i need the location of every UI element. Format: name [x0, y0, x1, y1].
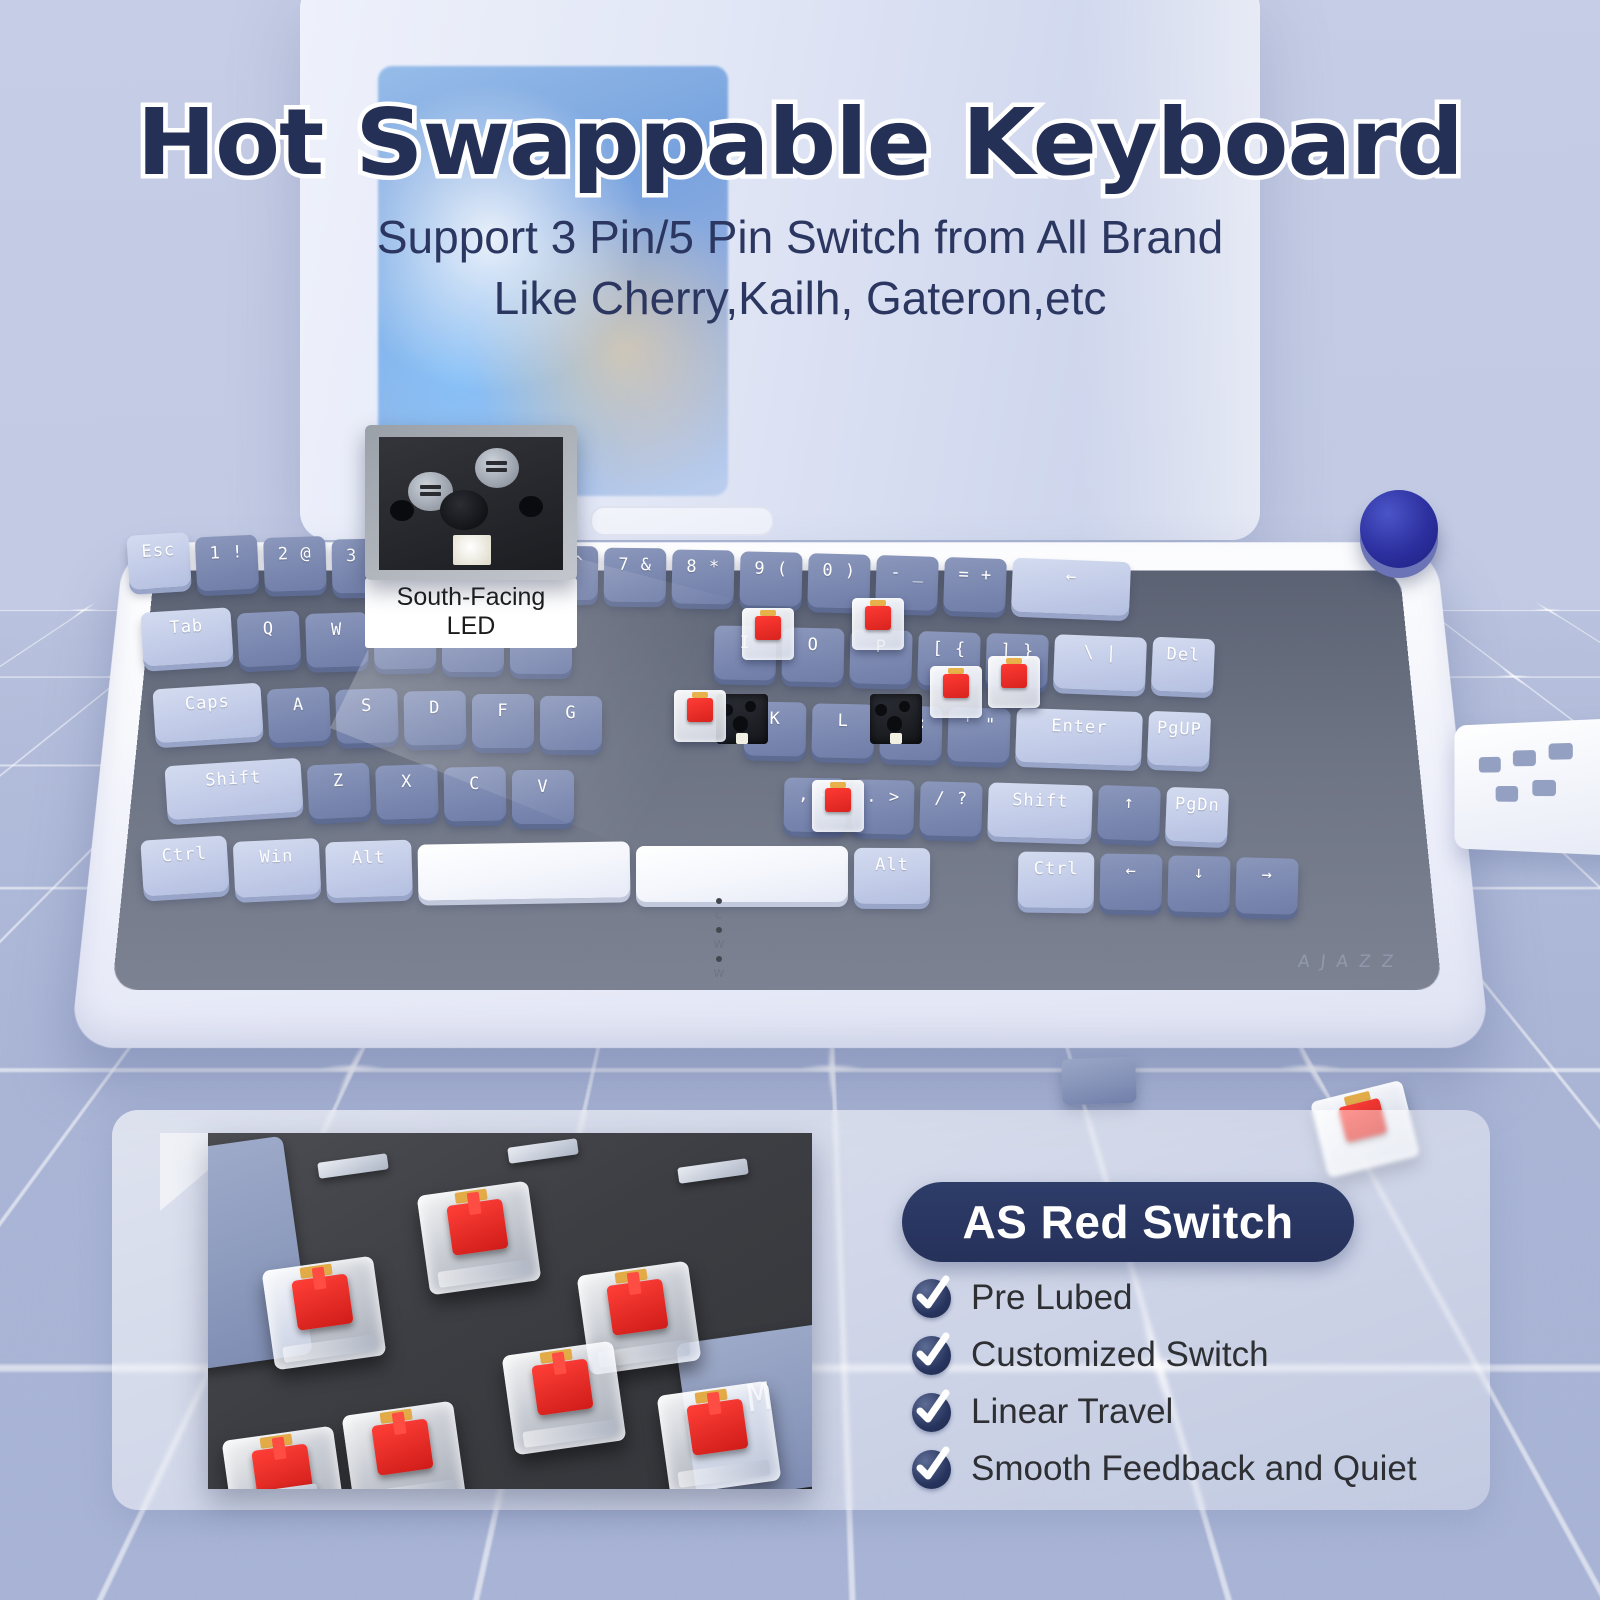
key-[interactable]: ↑ [1097, 785, 1161, 841]
key-[interactable]: \ | [1053, 634, 1147, 692]
check-icon [912, 1393, 951, 1432]
closeup-red-switch [222, 1426, 347, 1489]
volume-knob[interactable] [1360, 490, 1438, 568]
key-g[interactable]: G [540, 696, 602, 750]
feature-label: Customized Switch [971, 1335, 1269, 1375]
closeup-red-switch [417, 1181, 542, 1296]
monitor-edge-highlight [1080, 0, 1260, 540]
key-label: Caps [184, 692, 230, 715]
key-space[interactable] [636, 846, 848, 902]
key-label: 1 ! [209, 542, 244, 564]
keyboard-top-slot [590, 506, 774, 536]
feature-item: Smooth Feedback and Quiet [912, 1449, 1552, 1489]
key-x[interactable]: X [375, 764, 439, 820]
key-label: O [807, 635, 819, 655]
key-pgdn[interactable]: PgDn [1165, 787, 1229, 843]
key-shift[interactable]: Shift [164, 758, 303, 820]
socket-pin-hole-right [519, 496, 543, 517]
key-[interactable]: = + [943, 557, 1007, 613]
switch-socket-image [365, 425, 577, 580]
plate-clip [317, 1153, 389, 1179]
key-del[interactable]: Del [1151, 637, 1215, 694]
feature-label: Smooth Feedback and Quiet [971, 1449, 1417, 1489]
key-label: [ { [932, 638, 966, 659]
south-facing-led-callout: South-Facing LED [365, 425, 577, 648]
indicator-dot [716, 956, 722, 962]
key-label: D [429, 697, 441, 717]
key-label: - _ [890, 562, 924, 583]
key-2[interactable]: 2 @ [263, 536, 327, 592]
key-enter[interactable]: Enter [1015, 708, 1143, 766]
key-9[interactable]: 9 ( [739, 551, 802, 606]
key-label: G [565, 703, 576, 723]
key-label: \ | [1083, 642, 1117, 663]
closeup-red-switch [342, 1401, 467, 1489]
indicator-leds: C W W [706, 898, 732, 985]
keyboard: Esc1 !2 @3 #4 $5 %6 ^7 &8 *9 (0 )- _= +←… [70, 488, 1490, 1048]
key-label: 7 & [618, 555, 652, 575]
key-a[interactable]: A [267, 686, 331, 743]
key-[interactable]: ← [1011, 558, 1131, 617]
key-label: W [331, 620, 343, 640]
key-label: X [401, 772, 413, 792]
key-label: V [537, 777, 548, 797]
feature-list: Pre LubedCustomized SwitchLinear TravelS… [912, 1278, 1552, 1506]
product-poster: Hot Swappable Keyboard Support 3 Pin/5 P… [0, 0, 1600, 1600]
socket-pin-hole-left [390, 500, 414, 521]
check-icon [912, 1336, 951, 1375]
plate-clip [677, 1158, 749, 1184]
key-label: Shift [205, 767, 262, 790]
key-label: Shift [1012, 790, 1069, 812]
key-label: ← [1125, 861, 1137, 881]
switch-closeup-photo: M [208, 1133, 812, 1489]
indicator-dot [716, 898, 722, 904]
socket-center-stem-hole [440, 490, 488, 530]
key-ctrl[interactable]: Ctrl [1018, 852, 1095, 909]
key-label: Win [259, 846, 294, 868]
south-facing-led [453, 535, 492, 564]
key-[interactable]: ← [1100, 853, 1163, 910]
key-label: 0 ) [822, 561, 856, 582]
key-label: Z [332, 770, 344, 791]
key-label: Ctrl [161, 844, 207, 867]
feature-item: Customized Switch [912, 1335, 1552, 1375]
key-label: ↑ [1123, 793, 1135, 813]
indicator-label-c: C [715, 909, 723, 922]
key-w[interactable]: W [305, 612, 369, 668]
key-v[interactable]: V [512, 770, 574, 824]
key-[interactable]: / ? [919, 781, 982, 837]
key-label: → [1261, 865, 1273, 885]
feature-label: Pre Lubed [971, 1278, 1133, 1318]
key-label: ↓ [1193, 863, 1205, 883]
key-label: Esc [141, 540, 176, 562]
key-label: C [469, 773, 481, 793]
secondary-keyboard [1454, 718, 1600, 856]
key-label: Alt [875, 855, 909, 875]
indicator-label-w2: W [714, 967, 725, 980]
floating-keycap [1061, 1057, 1137, 1106]
key-esc[interactable]: Esc [126, 532, 191, 590]
key-ctrl[interactable]: Ctrl [140, 835, 229, 896]
key-label: Tab [169, 616, 204, 638]
key-label: S [361, 696, 373, 716]
key-[interactable]: ↓ [1167, 855, 1230, 912]
key-label: = + [958, 564, 992, 585]
key-label: Ctrl [1034, 859, 1079, 880]
key-label: L [837, 711, 849, 731]
key-s[interactable]: S [335, 688, 399, 744]
closeup-red-switch [502, 1341, 627, 1456]
exposed-red-switch [742, 608, 794, 660]
key-label: K [769, 709, 781, 729]
key-label: Alt [351, 847, 385, 868]
check-icon [912, 1279, 951, 1318]
key-l[interactable]: L [811, 703, 874, 758]
key-label: Q [262, 618, 274, 639]
indicator-label-w1: W [714, 938, 725, 951]
key-label: . > [866, 787, 900, 808]
exposed-red-switch [988, 656, 1040, 708]
as-red-switch-badge: AS Red Switch [902, 1182, 1354, 1262]
key-label: 2 @ [278, 543, 312, 564]
key-label: A [292, 694, 304, 715]
socket-inner [379, 437, 563, 570]
feature-label: Linear Travel [971, 1392, 1173, 1432]
key-tab[interactable]: Tab [140, 607, 233, 667]
closeup-red-switch [657, 1381, 782, 1489]
brand-logo: AJAZZ [1297, 952, 1405, 972]
key-f[interactable]: F [472, 694, 534, 748]
feature-item: Linear Travel [912, 1392, 1552, 1432]
key-space[interactable] [418, 841, 631, 900]
key-alt[interactable]: Alt [854, 848, 930, 904]
key-1[interactable]: 1 ! [195, 534, 259, 591]
key-d[interactable]: D [404, 690, 467, 745]
indicator-dot [716, 927, 722, 933]
callout-label: South-Facing LED [365, 578, 577, 648]
key-label: / ? [934, 789, 968, 810]
key-7[interactable]: 7 & [604, 548, 667, 603]
empty-hotswap-socket [870, 694, 922, 744]
key-8[interactable]: 8 * [672, 549, 735, 604]
feature-item: Pre Lubed [912, 1278, 1552, 1318]
socket-contact-pad-right [475, 448, 519, 488]
key-label: ← [1065, 567, 1077, 587]
check-icon [912, 1450, 951, 1489]
exposed-red-switch [852, 598, 904, 650]
key-caps[interactable]: Caps [152, 683, 263, 744]
key-label: Del [1166, 644, 1201, 665]
key-label: 8 * [686, 557, 720, 578]
plate-clip [507, 1138, 579, 1164]
key-z[interactable]: Z [307, 762, 371, 819]
key-label: F [497, 701, 508, 721]
key-label: 9 ( [754, 559, 788, 580]
key-shift[interactable]: Shift [987, 782, 1093, 839]
exposed-red-switch [674, 690, 726, 742]
closeup-red-switch [262, 1256, 387, 1371]
key-c[interactable]: C [444, 766, 507, 821]
key-q[interactable]: Q [237, 610, 301, 667]
key-alt[interactable]: Alt [325, 840, 413, 899]
badge-title: AS Red Switch [962, 1195, 1293, 1249]
key-label: Enter [1051, 716, 1108, 738]
key-label: PgUP [1157, 718, 1203, 740]
key-win[interactable]: Win [233, 838, 322, 898]
key-label: PgDn [1175, 794, 1221, 816]
key-pgup[interactable]: PgUP [1147, 711, 1211, 767]
key-[interactable]: → [1235, 857, 1298, 915]
exposed-red-switch [930, 666, 982, 718]
exposed-red-switch [812, 780, 864, 832]
